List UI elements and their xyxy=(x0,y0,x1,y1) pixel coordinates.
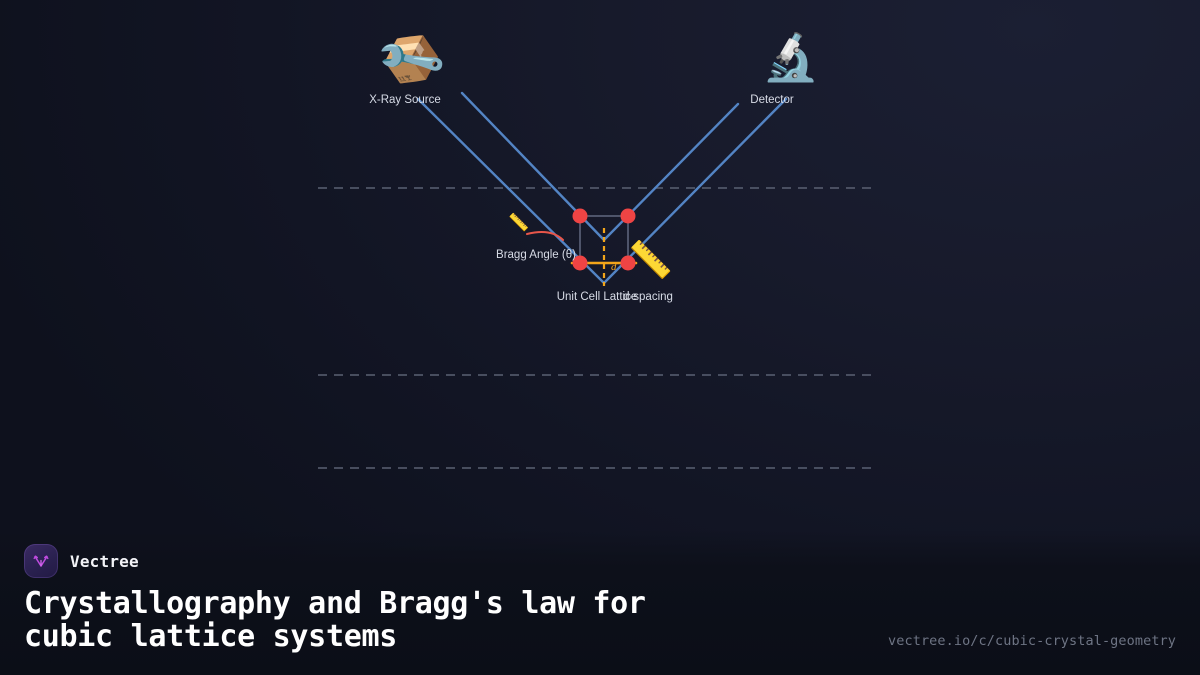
screenshot-root: d 📦 🔧 🔬 📏 📏 X-Ray Source Detector Bragg … xyxy=(0,0,1200,675)
beam-group xyxy=(418,93,786,283)
lattice-atom[interactable] xyxy=(573,209,588,224)
bragg-angle-arc xyxy=(527,232,563,240)
footer-url: vectree.io/c/cubic-crystal-geometry xyxy=(888,633,1176,649)
node-label-xray-source: X-Ray Source xyxy=(369,94,441,106)
vectree-glyph xyxy=(31,551,51,571)
brand-name: Vectree xyxy=(70,552,139,571)
node-label-detector: Detector xyxy=(750,94,793,106)
ruler-icon[interactable]: 📏 xyxy=(628,243,673,279)
footer: Vectree Crystallography and Bragg's law … xyxy=(0,530,1200,675)
vectree-logo-icon xyxy=(24,544,58,578)
node-label-d-spacing: d-spacing xyxy=(623,291,673,303)
lattice-atom[interactable] xyxy=(621,209,636,224)
page-title: Crystallography and Bragg's law for cubi… xyxy=(24,587,646,653)
brand-row[interactable]: Vectree xyxy=(24,544,139,578)
node-label-bragg-angle: Bragg Angle (θ) xyxy=(496,249,576,261)
d-spacing-symbol: d xyxy=(611,261,617,273)
lattice-plane-group xyxy=(318,188,878,468)
microscope-icon[interactable]: 🔬 xyxy=(762,34,819,80)
set-square-icon[interactable]: 📏 xyxy=(508,215,529,232)
